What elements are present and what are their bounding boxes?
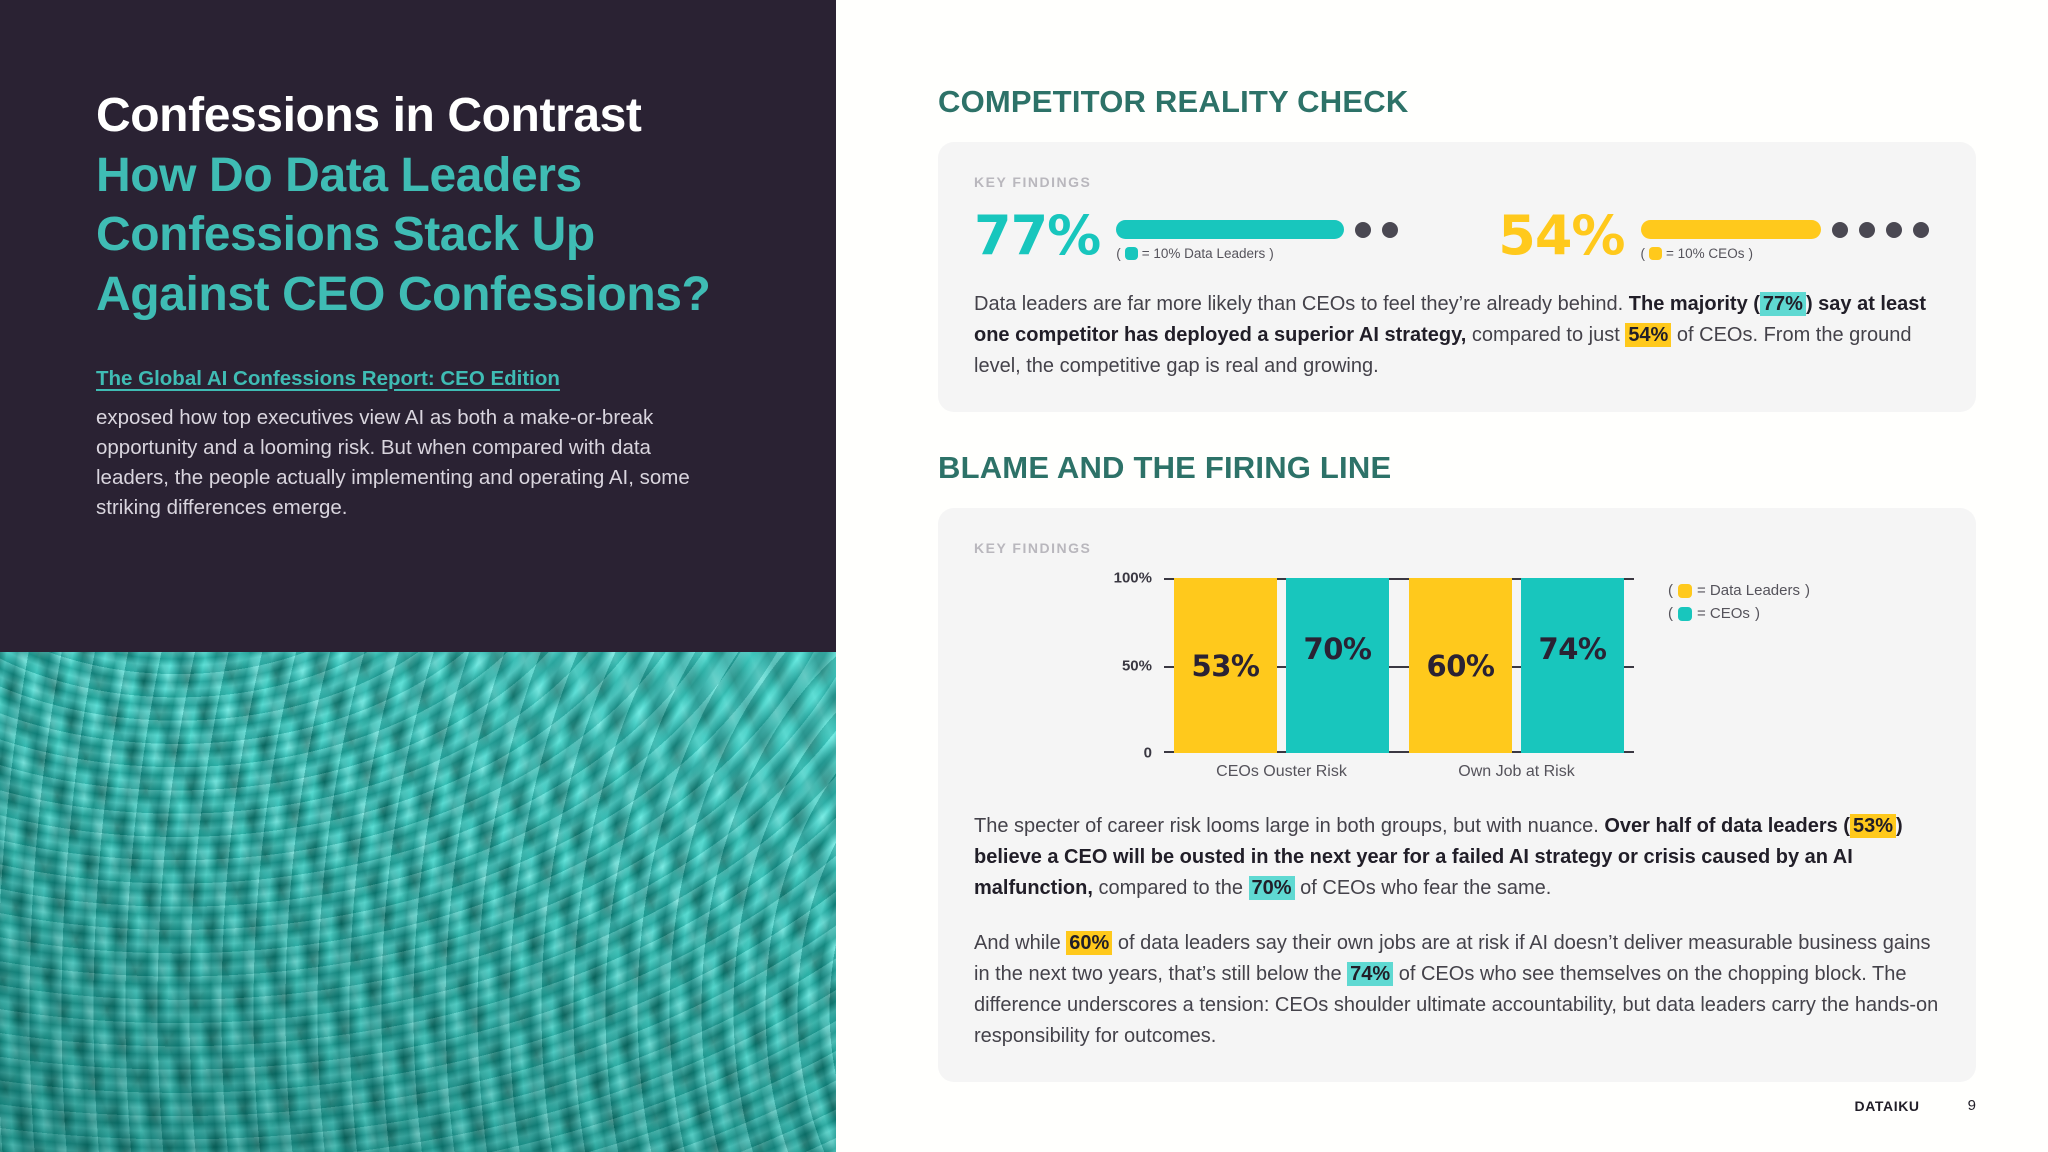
page-subtitle-line-2: Confessions Stack Up bbox=[96, 207, 752, 263]
bar-data-leaders-own-job: 60% bbox=[1409, 578, 1512, 753]
decorative-ridge-graphic bbox=[0, 652, 836, 1152]
key-findings-label-2: KEY FINDINGS bbox=[974, 540, 1940, 556]
section-heading-competitor-reality-check: COMPETITOR REALITY CHECK bbox=[938, 84, 1976, 120]
s1-bold-a: The majority ( bbox=[1629, 293, 1760, 315]
stat-dot bbox=[1886, 222, 1902, 238]
stat-legend-77: ( = 10% Data Leaders ) bbox=[1116, 246, 1398, 261]
bar-ceos-ouster: 70% bbox=[1286, 578, 1389, 753]
y-tick-50: 50% bbox=[1122, 657, 1152, 674]
stat-visual-54: ( = 10% CEOs ) bbox=[1641, 212, 1929, 261]
yellow-swatch-icon bbox=[1649, 247, 1662, 260]
stat-value-77: 77% bbox=[974, 212, 1100, 261]
x-tick-own-job-at-risk: Own Job at Risk bbox=[1399, 763, 1634, 781]
key-findings-label-1: KEY FINDINGS bbox=[974, 174, 1940, 190]
s2p1-bold-a: Over half of data leaders ( bbox=[1604, 815, 1850, 837]
section2-paragraph-2: And while 60% of data leaders say their … bbox=[974, 928, 1940, 1052]
left-hero-panel: Confessions in Contrast How Do Data Lead… bbox=[0, 0, 836, 1152]
stat-bars-row: 77% ( = 10% Data Leaders ) bbox=[974, 212, 1940, 261]
page-number: 9 bbox=[1968, 1097, 1976, 1114]
stat-bar-teal bbox=[1116, 220, 1344, 239]
bar-label-70: 70% bbox=[1304, 632, 1372, 666]
stat-legend-text-54: = 10% CEOs bbox=[1666, 246, 1744, 261]
bar-chart: 100% 50% 0 53% 70% bbox=[974, 578, 1940, 781]
chart-x-axis: CEOs Ouster Risk Own Job at Risk bbox=[1164, 763, 1634, 781]
s2p1-text-b: compared to the bbox=[1093, 877, 1249, 899]
stat-visual-77: ( = 10% Data Leaders ) bbox=[1116, 212, 1398, 261]
stat-dot bbox=[1859, 222, 1875, 238]
stat-data-leaders: 77% ( = 10% Data Leaders ) bbox=[974, 212, 1398, 261]
stat-legend-54: ( = 10% CEOs ) bbox=[1641, 246, 1929, 261]
bar-group-own-job-at-risk: 60% 74% bbox=[1399, 578, 1634, 753]
section2-paragraph-1: The specter of career risk looms large i… bbox=[974, 811, 1940, 904]
stat-dot bbox=[1382, 222, 1398, 238]
s1-text-b: compared to just bbox=[1466, 324, 1625, 346]
y-tick-0: 0 bbox=[1144, 745, 1152, 762]
stat-dot bbox=[1913, 222, 1929, 238]
stat-bar-yellow bbox=[1641, 220, 1821, 239]
s2p1-text-a: The specter of career risk looms large i… bbox=[974, 815, 1604, 837]
highlight-70: 70% bbox=[1249, 876, 1295, 900]
legend-item-data-leaders: ( = Data Leaders ) bbox=[1668, 582, 1810, 599]
section-heading-blame-and-the-firing-line: BLAME AND THE FIRING LINE bbox=[938, 450, 1976, 486]
teal-swatch-icon bbox=[1125, 247, 1138, 260]
legend-label-data-leaders: = Data Leaders bbox=[1697, 582, 1800, 599]
bar-label-74: 74% bbox=[1539, 632, 1607, 666]
bar-group-ceos-ouster-risk: 53% 70% bbox=[1164, 578, 1399, 753]
highlight-53: 53% bbox=[1850, 814, 1896, 838]
left-content: Confessions in Contrast How Do Data Lead… bbox=[0, 0, 836, 523]
page-subtitle-line-3: Against CEO Confessions? bbox=[96, 267, 752, 323]
highlight-54: 54% bbox=[1625, 323, 1671, 347]
brand-logo-dataiku: DATAIKU bbox=[1855, 1098, 1920, 1114]
legend-label-ceos: = CEOs bbox=[1697, 605, 1750, 622]
right-content-panel: COMPETITOR REALITY CHECK KEY FINDINGS 77… bbox=[836, 0, 2048, 1152]
highlight-77: 77% bbox=[1760, 292, 1806, 316]
teal-swatch-icon bbox=[1678, 607, 1692, 621]
bar-ceos-own-job: 74% bbox=[1521, 578, 1624, 753]
stat-dot bbox=[1355, 222, 1371, 238]
section1-paragraph: Data leaders are far more likely than CE… bbox=[974, 289, 1940, 382]
card-competitor-reality-check: KEY FINDINGS 77% ( = 10% Data Leaders ) bbox=[938, 142, 1976, 412]
report-link[interactable]: The Global AI Confessions Report: CEO Ed… bbox=[96, 367, 560, 391]
s2p1-text-c: of CEOs who fear the same. bbox=[1295, 877, 1552, 899]
stat-value-54: 54% bbox=[1498, 212, 1624, 261]
chart-bars: 53% 70% 60% 74% bbox=[1164, 578, 1634, 753]
highlight-74: 74% bbox=[1347, 962, 1393, 986]
chart-plot-area: 100% 50% 0 53% 70% bbox=[1164, 578, 1634, 753]
stat-ceos: 54% ( = 10% CEOs ) bbox=[1498, 212, 1928, 261]
s1-text-a: Data leaders are far more likely than CE… bbox=[974, 293, 1629, 315]
legend-item-ceos: ( = CEOs ) bbox=[1668, 605, 1810, 622]
chart-legend: ( = Data Leaders ) ( = CEOs ) bbox=[1668, 578, 1810, 628]
x-tick-ceos-ouster-risk: CEOs Ouster Risk bbox=[1164, 763, 1399, 781]
page-footer: DATAIKU 9 bbox=[1855, 1097, 1976, 1114]
stat-dot bbox=[1832, 222, 1848, 238]
bar-label-53: 53% bbox=[1192, 649, 1260, 683]
bar-label-60: 60% bbox=[1427, 649, 1495, 683]
stat-legend-text-77: = 10% Data Leaders bbox=[1142, 246, 1265, 261]
yellow-swatch-icon bbox=[1678, 584, 1692, 598]
intro-paragraph: exposed how top executives view AI as bo… bbox=[96, 403, 721, 524]
page-subtitle-line-1: How Do Data Leaders bbox=[96, 148, 752, 204]
card-blame-and-firing-line: KEY FINDINGS 100% 50% 0 53% bbox=[938, 508, 1976, 1082]
s2p2-text-a: And while bbox=[974, 932, 1066, 954]
page-title: Confessions in Contrast bbox=[96, 88, 752, 144]
highlight-60: 60% bbox=[1066, 931, 1112, 955]
bar-data-leaders-ouster: 53% bbox=[1174, 578, 1277, 753]
y-tick-100: 100% bbox=[1114, 570, 1152, 587]
